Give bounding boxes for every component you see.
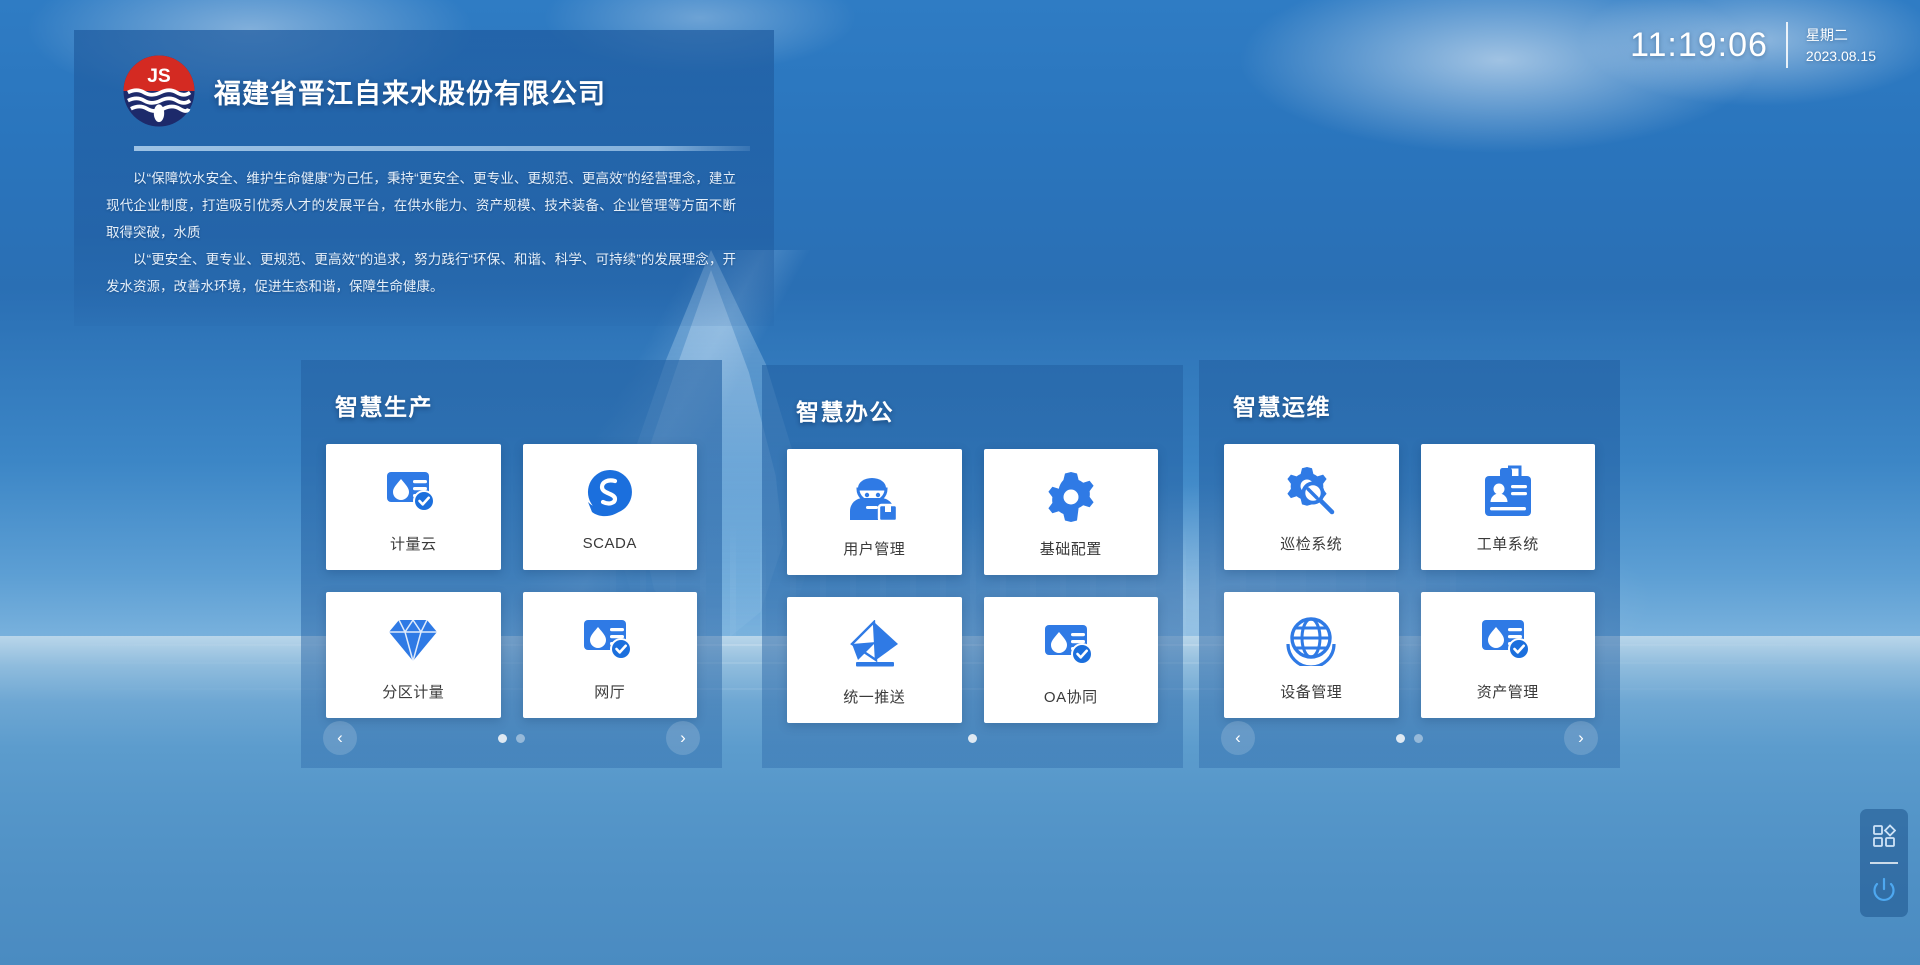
app-tile-inspection[interactable]: 巡检系统 xyxy=(1224,444,1399,570)
globe-icon xyxy=(1280,609,1342,671)
app-tile-base-config[interactable]: 基础配置 xyxy=(984,449,1159,575)
company-logo: JS xyxy=(122,54,196,128)
clock-time: 11:19:06 xyxy=(1630,28,1768,62)
app-tile-user-management[interactable]: 用户管理 xyxy=(787,449,962,575)
app-tile-fenqujiliang[interactable]: 分区计量 xyxy=(326,592,501,718)
panel-smart-office: 智慧办公 用户管理 xyxy=(762,365,1183,768)
app-tile-oa[interactable]: OA协同 xyxy=(984,597,1159,723)
clock-divider xyxy=(1786,22,1788,68)
brand-row: JS 福建省晋江自来水股份有限公司 xyxy=(104,54,744,128)
app-tile-asset-management[interactable]: 资产管理 xyxy=(1421,592,1596,718)
carousel-dot[interactable] xyxy=(516,734,525,743)
tile-grid: 计量云 SCADA 分区计量 xyxy=(325,444,698,718)
tile-grid: 用户管理 基础配置 xyxy=(786,449,1159,723)
apps-grid-icon[interactable] xyxy=(1871,823,1897,849)
panel-title: 智慧生产 xyxy=(335,388,698,422)
company-paragraph-1: 以“保障饮水安全、维护生命健康”为己任，秉持“更安全、更专业、更规范、更高效”的… xyxy=(106,165,736,246)
paper-plane-icon xyxy=(843,614,905,676)
panel-pager: ‹ › xyxy=(301,718,722,758)
diamond-icon xyxy=(382,609,444,671)
user-worker-icon xyxy=(843,466,905,528)
app-tile-label: 基础配置 xyxy=(1040,538,1102,559)
carousel-prev-button[interactable]: ‹ xyxy=(1221,721,1255,755)
company-description: 以“保障饮水安全、维护生命健康”为己任，秉持“更安全、更专业、更规范、更高效”的… xyxy=(104,165,744,300)
app-tile-label: SCADA xyxy=(583,535,637,552)
gear-wrench-icon xyxy=(1280,461,1342,523)
company-info-card: JS 福建省晋江自来水股份有限公司 以“保障饮水安全、维护生命健康”为己任，秉持… xyxy=(74,30,774,326)
panel-pager xyxy=(762,718,1183,758)
water-card-check-icon xyxy=(382,461,444,523)
floating-dock xyxy=(1860,809,1908,917)
power-icon[interactable] xyxy=(1871,877,1897,903)
app-tile-wangting[interactable]: 网厅 xyxy=(523,592,698,718)
app-tile-label: 用户管理 xyxy=(843,538,905,559)
app-tile-unified-push[interactable]: 统一推送 xyxy=(787,597,962,723)
carousel-dots xyxy=(968,734,977,743)
company-name: 福建省晋江自来水股份有限公司 xyxy=(214,72,606,111)
app-tile-label: 设备管理 xyxy=(1280,681,1342,702)
header-rule xyxy=(134,146,750,151)
panel-title: 智慧运维 xyxy=(1233,388,1596,422)
app-tile-label: 分区计量 xyxy=(382,681,444,702)
app-tile-work-order[interactable]: 工单系统 xyxy=(1421,444,1596,570)
scada-s-icon xyxy=(579,463,641,525)
app-tile-device-management[interactable]: 设备管理 xyxy=(1224,592,1399,718)
carousel-next-button[interactable]: › xyxy=(1564,721,1598,755)
panel-smart-production: 智慧生产 计量云 xyxy=(301,360,722,768)
water-card-check-icon xyxy=(579,609,641,671)
app-tile-label: 统一推送 xyxy=(843,686,905,707)
carousel-dots xyxy=(1396,734,1423,743)
app-tile-label: 网厅 xyxy=(594,681,625,702)
app-tile-label: 巡检系统 xyxy=(1280,533,1342,554)
carousel-prev-button[interactable]: ‹ xyxy=(323,721,357,755)
id-badge-icon xyxy=(1477,461,1539,523)
header-clock: 11:19:06 星期二 2023.08.15 xyxy=(1630,22,1876,68)
carousel-dots xyxy=(498,734,525,743)
water-card-check-icon xyxy=(1040,614,1102,676)
app-tile-label: 工单系统 xyxy=(1477,533,1539,554)
carousel-dot[interactable] xyxy=(1414,734,1423,743)
carousel-dot[interactable] xyxy=(968,734,977,743)
panel-pager: ‹ › xyxy=(1199,718,1620,758)
app-tile-label: 资产管理 xyxy=(1477,681,1539,702)
carousel-dot[interactable] xyxy=(1396,734,1405,743)
app-tile-scada[interactable]: SCADA xyxy=(523,444,698,570)
tile-grid: 巡检系统 工单系统 xyxy=(1223,444,1596,718)
app-tile-label: 计量云 xyxy=(390,533,437,554)
company-paragraph-2: 以“更安全、更专业、更规范、更高效”的追求，努力践行“环保、和谐、科学、可持续”… xyxy=(106,246,736,300)
water-card-check-icon xyxy=(1477,609,1539,671)
carousel-next-button[interactable]: › xyxy=(666,721,700,755)
gear-icon xyxy=(1040,466,1102,528)
panel-smart-operations: 智慧运维 巡检系统 xyxy=(1199,360,1620,768)
logo-initials: JS xyxy=(147,66,171,87)
clock-weekday: 星期二 xyxy=(1806,28,1876,42)
dock-divider xyxy=(1870,862,1898,864)
clock-date: 2023.08.15 xyxy=(1806,49,1876,63)
app-tile-label: OA协同 xyxy=(1044,686,1098,707)
panel-title: 智慧办公 xyxy=(796,393,1159,427)
app-tile-jiliangyun[interactable]: 计量云 xyxy=(326,444,501,570)
carousel-dot[interactable] xyxy=(498,734,507,743)
